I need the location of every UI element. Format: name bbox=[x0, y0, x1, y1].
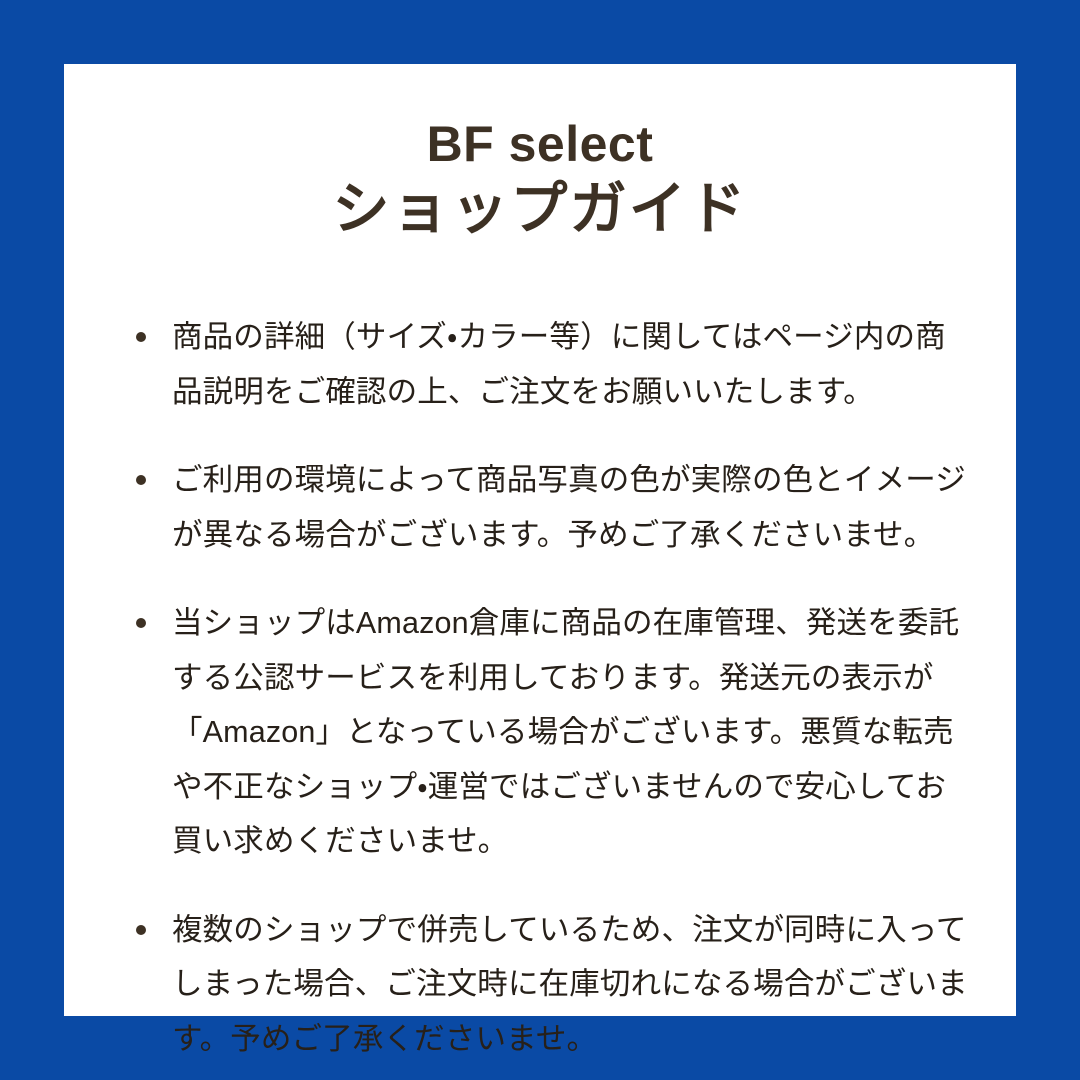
page-title: BF select ショップガイド bbox=[64, 64, 1016, 242]
bullet-dot-icon bbox=[136, 925, 146, 935]
list-item-text: 当ショップはAmazon倉庫に商品の在庫管理、発送を委託する公認サービスを利用し… bbox=[172, 596, 968, 869]
list-item: 商品の詳細（サイズ・カラー等）に関してはページ内の商品説明をご確認の上、ご注文を… bbox=[130, 310, 968, 419]
list-item-text: ご利用の環境によって商品写真の色が実際の色とイメージが異なる場合がございます。予… bbox=[172, 453, 968, 562]
bullet-dot-icon bbox=[136, 618, 146, 628]
list-item: ご利用の環境によって商品写真の色が実際の色とイメージが異なる場合がございます。予… bbox=[130, 453, 968, 562]
guide-notes-list: 商品の詳細（サイズ・カラー等）に関してはページ内の商品説明をご確認の上、ご注文を… bbox=[130, 310, 968, 1066]
white-panel: BF select ショップガイド 商品の詳細（サイズ・カラー等）に関してはペー… bbox=[64, 64, 1016, 1016]
title-line-brand: BF select bbox=[64, 116, 1016, 172]
bullet-dot-icon bbox=[136, 475, 146, 485]
list-item: 複数のショップで併売しているため、注文が同時に入ってしまった場合、ご注文時に在庫… bbox=[130, 903, 968, 1067]
title-line-subtitle: ショップガイド bbox=[64, 178, 1016, 242]
list-item: 当ショップはAmazon倉庫に商品の在庫管理、発送を委託する公認サービスを利用し… bbox=[130, 596, 968, 869]
bullet-dot-icon bbox=[136, 332, 146, 342]
list-item-text: 複数のショップで併売しているため、注文が同時に入ってしまった場合、ご注文時に在庫… bbox=[172, 903, 968, 1067]
list-item-text: 商品の詳細（サイズ・カラー等）に関してはページ内の商品説明をご確認の上、ご注文を… bbox=[172, 310, 968, 419]
shop-guide-card: BF select ショップガイド 商品の詳細（サイズ・カラー等）に関してはペー… bbox=[0, 0, 1080, 1080]
